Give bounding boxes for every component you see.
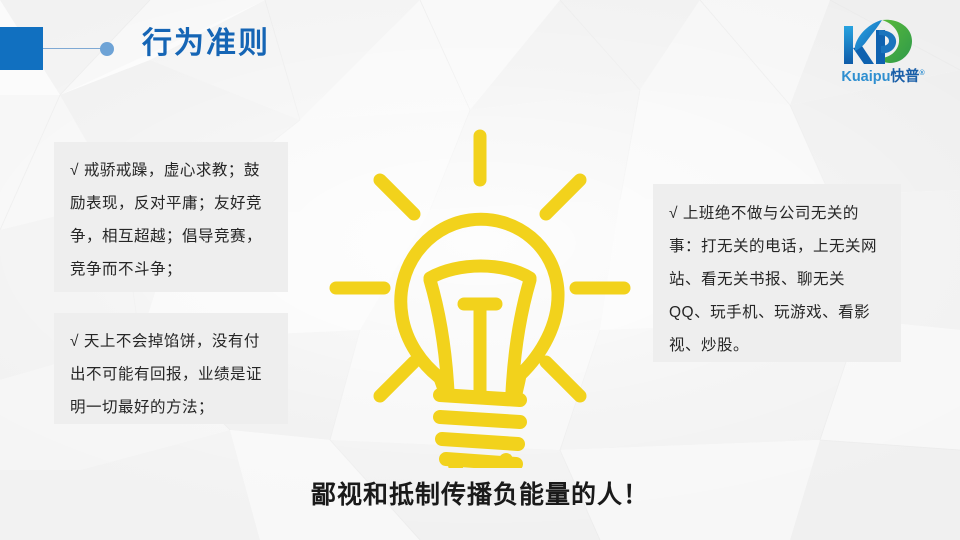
logo-name-cn: 快普 — [890, 69, 919, 85]
principle-panel-1: √ 戒骄戒躁，虚心求教；鼓励表现，反对平庸；友好竞争，相互超越；倡导竞赛，竞争而… — [54, 142, 288, 292]
slide-canvas: 行为准则 — [0, 0, 960, 540]
header-connector-line — [43, 48, 106, 49]
lightbulb-icon — [318, 128, 642, 468]
page-title: 行为准则 — [142, 23, 270, 65]
registered-trademark-icon: ® — [919, 70, 924, 77]
header-accent-square — [0, 27, 43, 70]
principle-panel-2: √ 天上不会掉馅饼，没有付出不可能有回报，业绩是证明一切最好的方法； — [54, 313, 288, 424]
company-logo: Kuaipu快普® — [824, 18, 942, 86]
logo-name-en: Kuaipu — [841, 69, 890, 85]
filament-arc — [430, 266, 530, 278]
base-band-1 — [440, 395, 520, 400]
slide-caption: 鄙视和抵制传播负能量的人！ — [0, 478, 960, 512]
ray-bottom-left — [380, 362, 414, 396]
header-accent-dot — [100, 42, 114, 56]
base-band-2 — [440, 417, 520, 422]
ray-top-left — [380, 180, 414, 214]
principle-panel-3: √ 上班绝不做与公司无关的事：打无关的电话，上无关网站、看无关书报、聊无关QQ、… — [653, 184, 901, 362]
logo-wordmark: Kuaipu快普® — [824, 65, 942, 86]
slide-header: 行为准则 — [0, 0, 960, 110]
ray-top-right — [546, 180, 580, 214]
base-band-3 — [442, 439, 518, 444]
kuaipu-logo-icon — [838, 18, 924, 66]
ray-bottom-right — [546, 362, 580, 396]
